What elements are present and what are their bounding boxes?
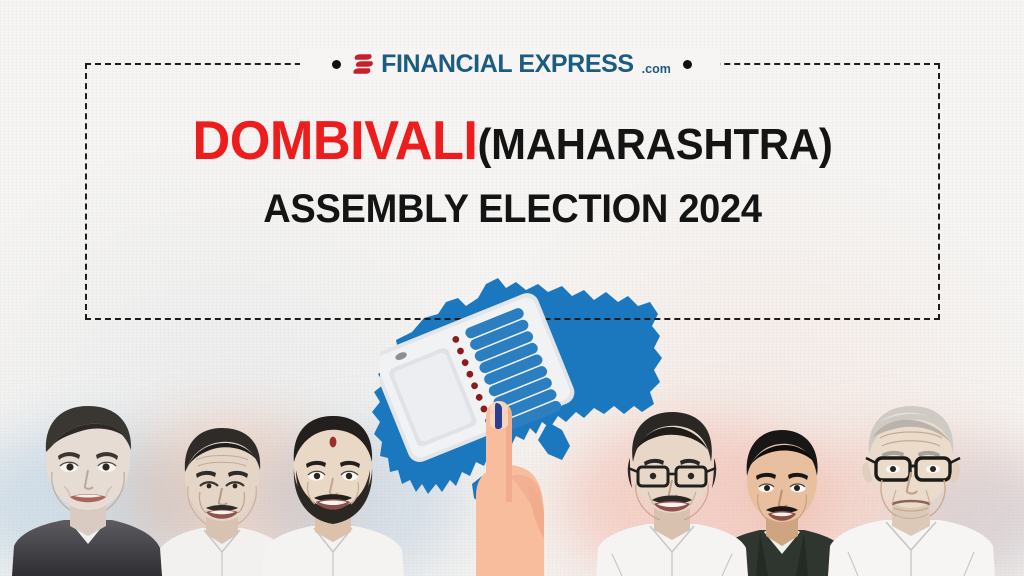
portrait-devendra-fadnavis-icon bbox=[8, 394, 168, 576]
headline-primary: DOMBIVALI(MAHARASHTRA) bbox=[106, 112, 918, 168]
voter-hand-with-inked-finger-icon bbox=[476, 401, 544, 576]
brand-tld: .com bbox=[642, 63, 671, 77]
portrait-devendra-fadnavis bbox=[8, 394, 168, 576]
bullet-dot-icon bbox=[683, 60, 692, 69]
portrait-sharad-pawar-icon bbox=[824, 396, 999, 576]
state-name: (MAHARASHTRA) bbox=[477, 120, 832, 169]
bullet-dot-icon bbox=[332, 60, 341, 69]
evm-and-hand-illustration bbox=[380, 290, 600, 576]
electronic-voting-machine-icon bbox=[380, 290, 600, 576]
portrait-uddhav-thackeray-icon bbox=[592, 404, 752, 576]
financial-express-s-mark-icon bbox=[353, 53, 374, 76]
financial-express-logo[interactable]: FINANCIAL EXPRESS .com bbox=[353, 52, 671, 77]
headline-block: DOMBIVALI(MAHARASHTRA) ASSEMBLY ELECTION… bbox=[85, 112, 940, 229]
portrait-eknath-shinde bbox=[258, 406, 408, 576]
election-poster: FINANCIAL EXPRESS .com DOMBIVALI(MAHARAS… bbox=[0, 0, 1024, 576]
masthead: FINANCIAL EXPRESS .com bbox=[0, 47, 1024, 81]
portrait-sharad-pawar bbox=[824, 396, 999, 576]
portrait-uddhav-thackeray bbox=[592, 404, 752, 576]
brand-name: FINANCIAL EXPRESS bbox=[381, 52, 634, 77]
constituency-name: DOMBIVALI bbox=[192, 109, 477, 171]
headline-subtitle: ASSEMBLY ELECTION 2024 bbox=[106, 189, 918, 229]
portrait-eknath-shinde-icon bbox=[258, 406, 408, 576]
